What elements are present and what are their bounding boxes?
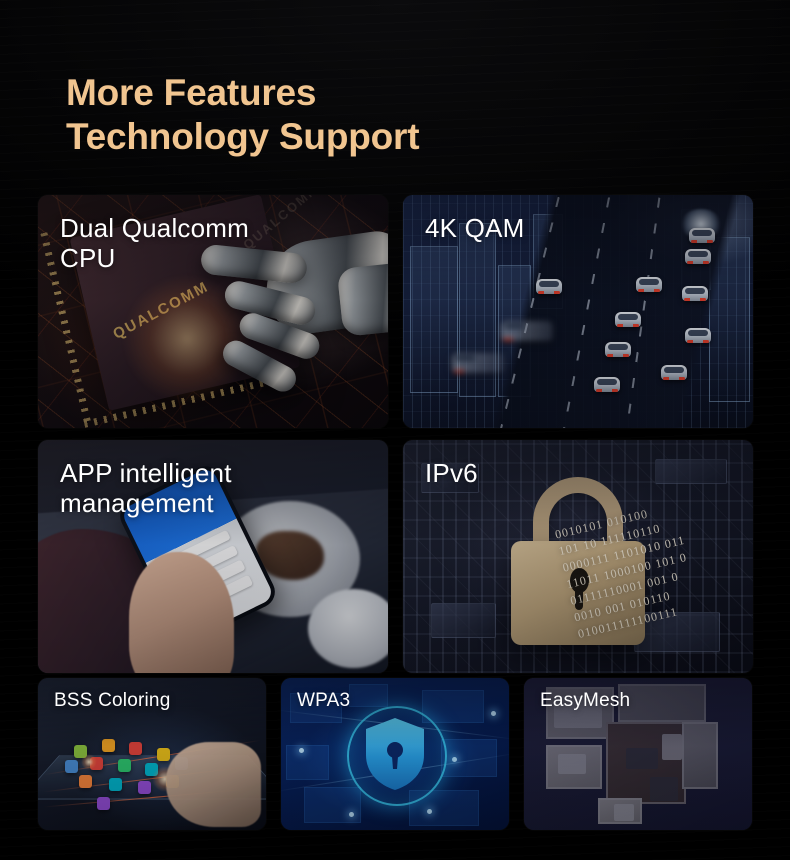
feature-card-ipv6[interactable]: 0010101 010100 101 10 111110110 0000111 …: [403, 440, 753, 673]
feature-label: WPA3: [297, 690, 350, 712]
app-icon: [65, 760, 78, 773]
page-title: More Features Technology Support: [66, 71, 706, 159]
car: [685, 249, 711, 264]
feature-card-wpa3[interactable]: WPA3: [281, 678, 509, 830]
feature-label: Dual Qualcomm CPU: [60, 213, 249, 273]
hand: [166, 742, 262, 827]
car: [605, 342, 631, 357]
feature-card-easymesh[interactable]: EasyMesh: [524, 678, 752, 830]
feature-grid-small: BSS Coloring: [38, 678, 753, 830]
car: [536, 279, 562, 294]
app-icon: [109, 778, 122, 791]
car-motion-blur: [501, 321, 553, 341]
feature-label: EasyMesh: [540, 690, 630, 712]
car: [685, 328, 711, 343]
car-motion-blur: [452, 353, 504, 373]
block: [286, 745, 329, 780]
app-icon: [97, 797, 110, 810]
car: [636, 277, 662, 292]
feature-card-4k-qam[interactable]: 4K QAM: [403, 195, 753, 428]
feature-card-bss-coloring[interactable]: BSS Coloring: [38, 678, 266, 830]
node-dot: [452, 757, 457, 762]
robot-wrist: [336, 261, 388, 337]
node-dot: [427, 809, 432, 814]
app-icon: [157, 748, 170, 761]
car: [661, 365, 687, 380]
app-icon: [138, 781, 151, 794]
block: [349, 684, 387, 707]
block: [304, 787, 361, 822]
car: [615, 312, 641, 327]
feature-grid-large: QUALCOMM QUALCOMM Dual Qualcomm CPU: [38, 195, 753, 673]
app-icon: [102, 739, 115, 752]
app-icon: [129, 742, 142, 755]
shield-lock-icon: [364, 717, 426, 791]
feature-card-app-intelligent-management[interactable]: APP intelligent management: [38, 440, 388, 673]
board-component: [431, 603, 496, 638]
app-icon: [118, 759, 131, 772]
feature-label: BSS Coloring: [54, 690, 170, 712]
car: [689, 228, 715, 243]
car: [682, 286, 708, 301]
board-component: [655, 459, 727, 484]
feature-page: More Features Technology Support QUALCOM…: [0, 0, 790, 860]
feature-card-dual-qualcomm-cpu[interactable]: QUALCOMM QUALCOMM Dual Qualcomm CPU: [38, 195, 388, 428]
car: [594, 377, 620, 392]
block: [422, 690, 483, 722]
feature-label: 4K QAM: [425, 213, 524, 243]
feature-label: IPv6: [425, 458, 478, 488]
feature-label: APP intelligent management: [60, 458, 232, 518]
app-icon: [79, 775, 92, 788]
